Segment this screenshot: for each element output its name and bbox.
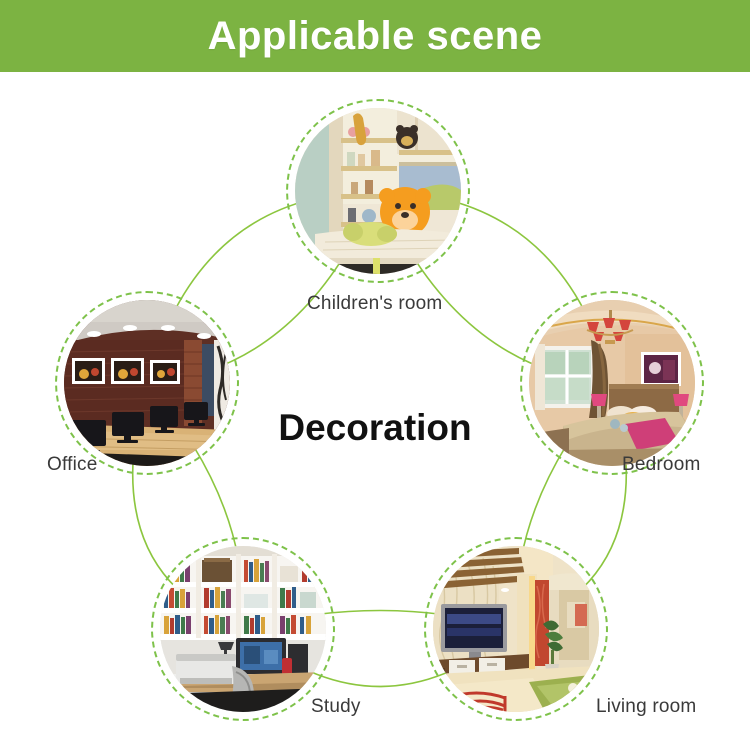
study-ring bbox=[151, 537, 335, 721]
header-bar: Applicable scene bbox=[0, 0, 750, 72]
node-label-bedroom: Bedroom bbox=[622, 454, 701, 476]
node-label-children-room: Children's room bbox=[307, 293, 442, 315]
applicable-scene-page: Applicable scene bbox=[0, 0, 750, 750]
node-office[interactable] bbox=[55, 291, 239, 475]
living-room-ring bbox=[424, 537, 608, 721]
node-label-living-room: Living room bbox=[596, 696, 696, 718]
node-study[interactable] bbox=[151, 537, 335, 721]
children-room-ring bbox=[286, 99, 470, 283]
node-bedroom[interactable] bbox=[520, 291, 704, 475]
page-title: Applicable scene bbox=[208, 14, 543, 59]
node-label-study: Study bbox=[311, 696, 361, 718]
scene-diagram: Decoration bbox=[0, 72, 750, 750]
bedroom-ring bbox=[520, 291, 704, 475]
office-ring bbox=[55, 291, 239, 475]
node-children-room[interactable] bbox=[286, 99, 470, 283]
node-label-office: Office bbox=[47, 454, 97, 476]
node-living-room[interactable] bbox=[424, 537, 608, 721]
